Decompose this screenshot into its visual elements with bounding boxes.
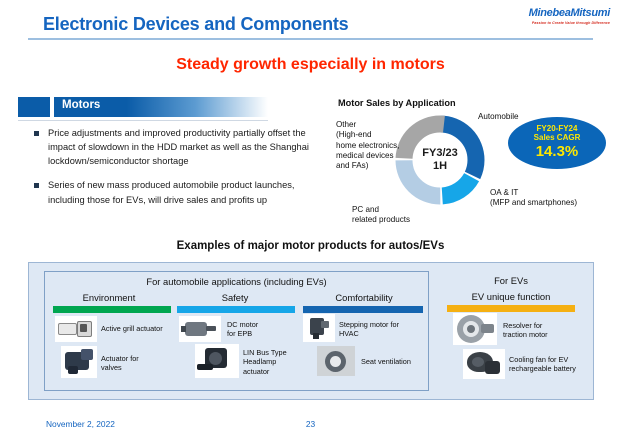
chart-label-pc-line1: PC and	[352, 205, 410, 215]
product-label-line2: HVAC	[339, 329, 399, 338]
chart-label-automobile: Automobile	[478, 112, 519, 122]
header-divider	[28, 38, 593, 40]
product-image-active-grill-actuator	[55, 316, 97, 342]
list-item: Series of new mass produced automobile p…	[30, 178, 320, 206]
product-label-lin-bus-headlamp-actuator: LIN Bus Type Headlamp actuator	[243, 348, 287, 376]
motors-bullet-list: Price adjustments and improved productiv…	[30, 126, 320, 217]
list-item: Price adjustments and improved productiv…	[30, 126, 320, 168]
product-image-actuator-for-valves	[61, 346, 97, 378]
chart-label-other-line5: and FAs)	[336, 161, 399, 171]
automobile-applications-box: For automobile applications (including E…	[44, 271, 429, 391]
product-label-resolver-traction-motor: Resolver for traction motor	[503, 321, 548, 340]
bullet-marker-icon	[34, 131, 39, 136]
ev-group-title: For EVs	[441, 275, 581, 286]
product-label-line1: DC motor	[227, 320, 258, 329]
chart-label-pc-line2: related products	[352, 215, 410, 225]
chart-label-other: Other (High-end home electronics, medica…	[336, 120, 399, 172]
bullet-marker-icon	[34, 183, 39, 188]
automobile-group-title: For automobile applications (including E…	[45, 276, 428, 287]
bullet-text: Price adjustments and improved productiv…	[48, 126, 320, 168]
product-label-stepping-motor-hvac: Stepping motor for HVAC	[339, 320, 399, 339]
motors-underline	[18, 120, 268, 121]
products-section-title: Examples of major motor products for aut…	[0, 240, 621, 252]
product-label-line2: Headlamp	[243, 357, 287, 366]
product-label-line1: Actuator for	[101, 354, 139, 363]
product-label-line1: Cooling fan for EV	[509, 355, 576, 364]
cagr-badge: FY20-FY24 Sales CAGR 14.3%	[508, 117, 606, 169]
product-label-line1: Seat ventilation	[361, 357, 411, 366]
page-title: Electronic Devices and Components	[43, 14, 348, 35]
donut-center-label: FY3/23 1H	[392, 112, 488, 208]
product-label-dc-motor-epb: DC motor for EPB	[227, 320, 258, 339]
category-bar-ev-unique-function	[447, 305, 575, 312]
product-image-stepping-motor-hvac	[303, 314, 335, 342]
slide: Electronic Devices and Components Minebe…	[0, 0, 621, 438]
product-label-line1: LIN Bus Type	[243, 348, 287, 357]
product-label-line1: Resolver for	[503, 321, 548, 330]
chart-label-other-line2: (High-end	[336, 130, 399, 140]
product-image-cooling-fan-ev-battery	[463, 349, 505, 379]
product-image-resolver-traction-motor	[453, 313, 497, 345]
chart-label-oa-it: OA & IT (MFP and smartphones)	[490, 188, 577, 209]
product-label-line1: Stepping motor for	[339, 320, 399, 329]
logo-wordmark: MinebeaMitsumi	[529, 8, 610, 20]
product-image-dc-motor-epb	[179, 316, 221, 342]
column-title-comfortability: Comfortability	[303, 292, 425, 303]
category-bar-comfortability	[303, 306, 423, 313]
chart-title: Motor Sales by Application	[338, 98, 456, 108]
donut-chart: FY3/23 1H	[392, 112, 488, 208]
chart-label-oa-it-line1: OA & IT	[490, 188, 577, 198]
column-title-safety: Safety	[175, 292, 295, 303]
column-title-ev-unique-function: EV unique function	[441, 291, 581, 302]
company-logo: MinebeaMitsumi Passion to Create Value t…	[529, 8, 610, 25]
products-panel: For automobile applications (including E…	[28, 262, 594, 400]
donut-center-line1: FY3/23	[422, 147, 457, 160]
product-label-line2: traction motor	[503, 330, 548, 339]
product-label-line3: actuator	[243, 367, 287, 376]
cagr-badge-value: 14.3%	[536, 144, 579, 161]
footer-page-number: 23	[0, 419, 621, 429]
chart-label-other-line1: Other	[336, 120, 399, 130]
chart-label-oa-it-line2: (MFP and smartphones)	[490, 198, 577, 208]
category-bar-safety	[177, 306, 295, 313]
product-label-line1: Active grill actuator	[101, 324, 163, 333]
cagr-badge-line2: Sales CAGR	[534, 134, 581, 143]
chart-label-other-line3: home electronics,	[336, 141, 399, 151]
product-label-cooling-fan-ev-battery: Cooling fan for EV rechargeable battery	[509, 355, 576, 374]
product-label-line2: for EPB	[227, 329, 258, 338]
product-image-lin-bus-headlamp-actuator	[195, 344, 239, 378]
donut-center-line2: 1H	[433, 160, 447, 173]
product-label-seat-ventilation: Seat ventilation	[361, 357, 411, 366]
product-label-actuator-for-valves: Actuator for valves	[101, 354, 139, 373]
product-label-line2: rechargeable battery	[509, 364, 576, 373]
motors-accent-block	[18, 97, 50, 117]
category-bar-environment	[53, 306, 171, 313]
chart-label-other-line4: medical devices	[336, 151, 399, 161]
product-label-active-grill-actuator: Active grill actuator	[101, 324, 163, 333]
product-image-seat-ventilation	[317, 346, 355, 376]
ev-applications-box: For EVs EV unique function Resolver for …	[441, 271, 581, 391]
bullet-text: Series of new mass produced automobile p…	[48, 178, 320, 206]
motors-header-label: Motors	[62, 99, 100, 111]
column-title-environment: Environment	[49, 292, 169, 303]
logo-tagline: Passion to Create Value through Differen…	[529, 21, 610, 25]
chart-label-pc: PC and related products	[352, 205, 410, 226]
slide-subtitle: Steady growth especially in motors	[0, 56, 621, 74]
product-label-line2: valves	[101, 363, 139, 372]
